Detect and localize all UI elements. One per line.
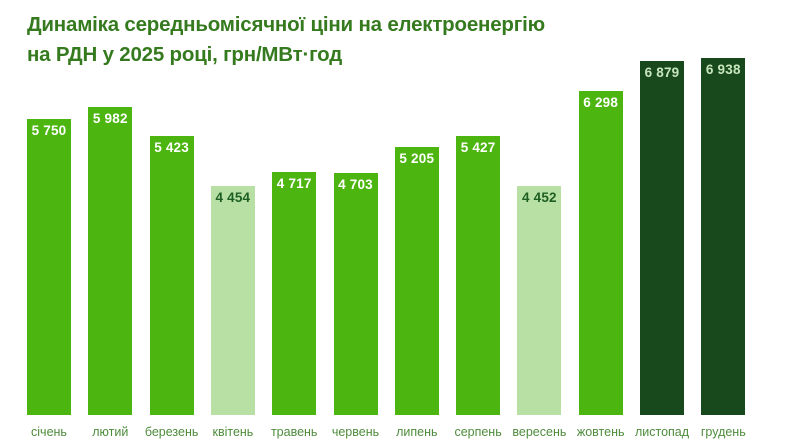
bar-серпень[interactable]: 5 427	[456, 136, 500, 415]
x-axis-label-квітень: квітень	[202, 425, 264, 440]
bar-липень[interactable]: 5 205	[395, 147, 439, 415]
bar-травень[interactable]: 4 717	[272, 172, 316, 415]
x-axis-label-серпень: серпень	[447, 425, 509, 440]
x-axis-label-лютий: лютий	[79, 425, 141, 440]
bar-value-label: 5 423	[150, 140, 194, 156]
bar-value-label: 4 703	[334, 177, 378, 193]
bar-group: 6 938грудень	[701, 0, 745, 443]
x-axis-label-вересень: вересень	[508, 425, 570, 440]
bar-лютий[interactable]: 5 982	[88, 107, 132, 415]
bar-березень[interactable]: 5 423	[150, 136, 194, 415]
bar-value-label: 6 938	[701, 62, 745, 78]
x-axis-label-березень: березень	[141, 425, 203, 440]
bar-січень[interactable]: 5 750	[27, 119, 71, 415]
bar-value-label: 4 717	[272, 176, 316, 192]
bar-value-label: 4 454	[211, 190, 255, 206]
bar-вересень[interactable]: 4 452	[517, 186, 561, 415]
x-axis-label-грудень: грудень	[692, 425, 754, 440]
bar-value-label: 6 298	[579, 95, 623, 111]
x-axis-label-червень: червень	[325, 425, 387, 440]
bar-value-label: 4 452	[517, 190, 561, 206]
chart-title: Динаміка середньомісячної ціни на електр…	[27, 10, 687, 70]
x-axis-label-травень: травень	[263, 425, 325, 440]
x-axis-label-січень: січень	[18, 425, 80, 440]
bar-квітень[interactable]: 4 454	[211, 186, 255, 415]
x-axis-label-жовтень: жовтень	[570, 425, 632, 440]
bar-червень[interactable]: 4 703	[334, 173, 378, 415]
bar-value-label: 5 205	[395, 151, 439, 167]
bar-value-label: 5 750	[27, 123, 71, 139]
bar-жовтень[interactable]: 6 298	[579, 91, 623, 415]
bar-value-label: 5 982	[88, 111, 132, 127]
x-axis-label-липень: липень	[386, 425, 448, 440]
bar-грудень[interactable]: 6 938	[701, 58, 745, 415]
bar-листопад[interactable]: 6 879	[640, 61, 684, 415]
chart-root: Динаміка середньомісячної ціни на електр…	[0, 0, 788, 443]
bar-value-label: 5 427	[456, 140, 500, 156]
x-axis-label-листопад: листопад	[631, 425, 693, 440]
